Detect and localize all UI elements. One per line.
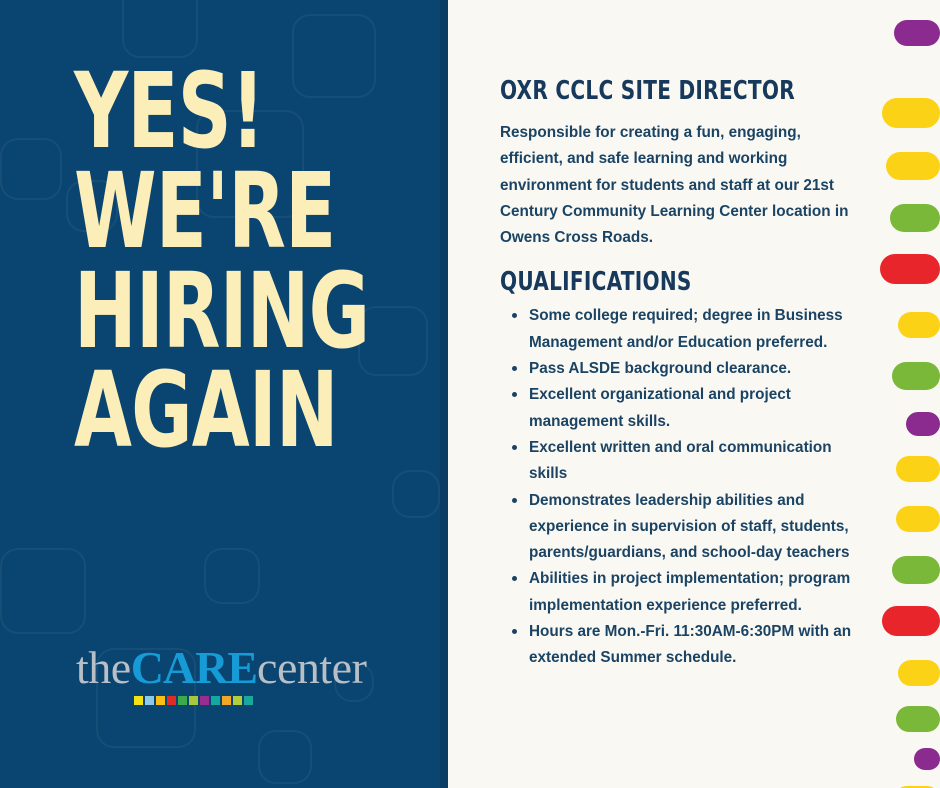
bullet-icon (512, 313, 517, 318)
headline-line: HIRING (74, 262, 370, 362)
qualification-text: Pass ALSDE background clearance. (529, 360, 791, 377)
bullet-icon (512, 392, 517, 397)
color-bar (892, 362, 940, 390)
bullet-icon (512, 629, 517, 634)
logo-color-square (178, 696, 187, 705)
job-title: OXR CCLC SITE DIRECTOR (500, 78, 808, 104)
logo-color-square (156, 696, 165, 705)
color-bar (898, 660, 940, 686)
logo-color-square (134, 696, 143, 705)
color-bar (882, 98, 940, 128)
bullet-icon (512, 366, 517, 371)
logo-color-square (222, 696, 231, 705)
page-title: YES!WE'REHIRINGAGAIN (74, 62, 370, 461)
qualification-item: Demonstrates leadership abilities and ex… (500, 488, 858, 567)
qualifications-heading: QUALIFICATIONS (500, 269, 808, 295)
logo-color-square (244, 696, 253, 705)
right-content-panel: OXR CCLC SITE DIRECTOR Responsible for c… (448, 0, 940, 788)
decorative-rounded-square (204, 548, 260, 604)
logo-color-square (211, 696, 220, 705)
job-description: Responsible for creating a fun, engaging… (500, 120, 858, 251)
left-hero-panel: YES!WE'REHIRINGAGAIN theCAREcenter (0, 0, 448, 788)
logo-color-square (200, 696, 209, 705)
color-bar (896, 456, 940, 482)
logo-color-square (167, 696, 176, 705)
job-posting-poster: YES!WE'REHIRINGAGAIN theCAREcenter OXR C… (0, 0, 940, 788)
color-bar (896, 506, 940, 532)
color-bar (892, 556, 940, 584)
bullet-icon (512, 445, 517, 450)
decorative-rounded-square (0, 548, 86, 634)
logo-color-square (233, 696, 242, 705)
qualification-item: Pass ALSDE background clearance. (500, 356, 858, 382)
color-bar (880, 254, 940, 284)
color-bar (898, 312, 940, 338)
bullet-icon (512, 498, 517, 503)
headline-line: YES! (74, 62, 370, 162)
qualification-text: Excellent organizational and project man… (529, 386, 791, 429)
qualification-item: Abilities in project implementation; pro… (500, 566, 858, 619)
logo-the-text: the (76, 642, 131, 693)
logo-wordmark: theCAREcenter (76, 645, 376, 691)
qualification-text: Some college required; degree in Busines… (529, 307, 843, 350)
qualification-text: Abilities in project implementation; pro… (529, 570, 850, 613)
logo-color-squares (134, 696, 376, 705)
color-bar (890, 204, 940, 232)
qualification-text: Demonstrates leadership abilities and ex… (529, 492, 849, 562)
job-details: OXR CCLC SITE DIRECTOR Responsible for c… (500, 78, 858, 672)
decorative-rounded-square (258, 730, 312, 784)
logo-care-text: CARE (131, 642, 257, 693)
bullet-icon (512, 576, 517, 581)
qualifications-list: Some college required; degree in Busines… (500, 303, 858, 671)
qualification-item: Some college required; degree in Busines… (500, 303, 858, 356)
color-bar (906, 412, 940, 436)
headline-line: AGAIN (74, 361, 370, 461)
logo: theCAREcenter (76, 645, 376, 705)
color-bar (914, 748, 940, 770)
decorative-color-bars (880, 0, 940, 788)
qualification-text: Hours are Mon.-Fri. 11:30AM-6:30PM with … (529, 623, 851, 666)
color-bar (896, 706, 940, 732)
qualification-item: Excellent written and oral communication… (500, 435, 858, 488)
panel-edge-strip (440, 0, 448, 788)
color-bar (886, 152, 940, 180)
qualification-item: Hours are Mon.-Fri. 11:30AM-6:30PM with … (500, 619, 858, 672)
logo-color-square (189, 696, 198, 705)
color-bar (894, 20, 940, 46)
qualification-item: Excellent organizational and project man… (500, 382, 858, 435)
logo-color-square (145, 696, 154, 705)
logo-center-text: center (257, 642, 366, 693)
qualification-text: Excellent written and oral communication… (529, 439, 832, 482)
decorative-rounded-square (392, 470, 440, 518)
headline-line: WE'RE (74, 162, 370, 262)
color-bar (882, 606, 940, 636)
decorative-rounded-square (0, 138, 62, 200)
